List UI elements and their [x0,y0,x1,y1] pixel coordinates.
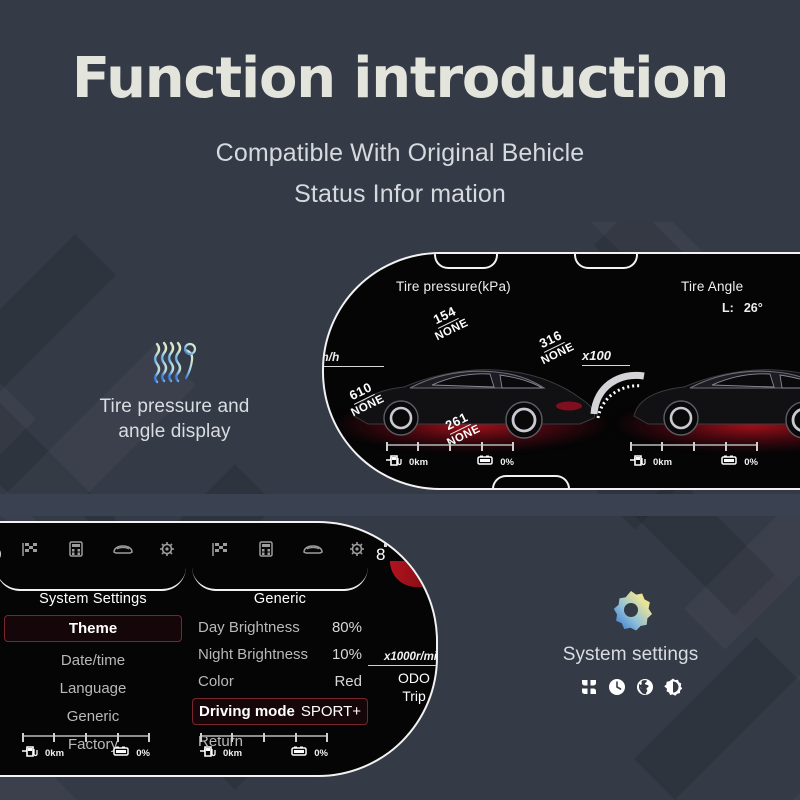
clock-icon [607,677,627,697]
menu-item-label: Language [60,676,127,701]
system-settings-cluster-panel: 0 8 [0,521,438,777]
range-value: 0km [409,457,428,468]
status-ticks [386,444,514,452]
status-bar-right: 0km 0% [200,735,328,760]
trip-label: Trip [368,688,438,704]
checkered-flag-icon[interactable] [20,541,40,557]
fuel-icon [630,455,648,469]
gear-icon[interactable] [158,541,178,557]
gear-icon [508,588,753,632]
battery-icon [477,455,495,469]
battery-value: 0% [314,748,328,759]
menu-item-datetime[interactable]: Date/time [4,648,182,673]
range-value: 0km [653,457,672,468]
battery-icon [113,746,131,760]
rpm-multiplier-label: x100 [582,348,630,366]
menu-item-label: Date/time [61,648,125,673]
menu-item-label: Driving mode [199,699,301,724]
menu-item-generic[interactable]: Generic [4,704,182,729]
range-value: 0km [45,748,64,759]
status-bar-left: 0km 0% [22,735,150,760]
redline-arc [390,561,438,587]
odo-label: ODO [368,670,438,686]
gauge-tick-right [384,537,387,547]
car-icon[interactable] [302,541,322,557]
fuel-icon [200,746,218,760]
car-silhouette-right [624,354,800,444]
battery-icon [721,455,739,469]
panel-notch-bottom [492,475,570,490]
rpm-unit-label: x1000r/min [368,651,438,666]
tab-icons-left[interactable] [20,541,178,557]
menu-item-label: Day Brightness [198,615,332,640]
header-section: Function introduction Compatible With Or… [0,0,800,222]
menu-arc-right [192,567,368,591]
menu-item-color[interactable]: Color Red [192,669,368,694]
feature-tire-pressure: Tire pressure and angle display [52,338,297,444]
battery-value: 0% [136,748,150,759]
menu-item-theme[interactable]: Theme [4,615,182,642]
brightness-icon [663,677,683,697]
status-ticks [200,735,328,743]
tire-value-front-left: 154 NONE [425,300,470,343]
menu-item-value: Red [334,669,362,694]
status-values: 0km 0% [200,746,328,760]
generic-settings-menu: Generic Day Brightness 80% Night Brightn… [192,591,368,754]
fuel-icon [386,455,404,469]
feature-caption-line-2: angle display [52,419,297,444]
status-values: 0km 0% [22,746,150,760]
grid-clover-icon [579,677,599,697]
feature-mini-icons [508,677,753,697]
status-ticks [630,444,758,452]
status-values: 0km 0% [386,455,514,469]
menu-item-value: 10% [332,642,362,667]
feature-system-settings: System settings [508,588,753,697]
menu-arc-left [0,567,186,591]
menu-item-driving-mode[interactable]: Driving mode SPORT+ [192,698,368,725]
gauge-value-left: 0 [0,545,1,565]
subtitle-line-1: Compatible With Original Behicle [0,139,800,168]
tire-pressure-cluster-panel: Tire pressure(kPa) m/h 154 NONE 316 NO [322,252,800,490]
panel-notch-right [574,252,638,269]
menu-item-language[interactable]: Language [4,676,182,701]
menu-title: System Settings [4,591,182,607]
menu-item-value: 80% [332,615,362,640]
trip-computer-icon[interactable] [256,541,276,557]
section-divider [0,494,800,516]
trip-computer-icon[interactable] [66,541,86,557]
menu-item-label: Color [198,669,334,694]
status-bar-right: 0km 0% [630,444,758,469]
menu-item-value: SPORT+ [301,699,361,724]
feature-caption-line-1: Tire pressure and [52,394,297,419]
feature-caption-line-1: System settings [508,642,753,667]
menu-item-label: Generic [67,704,120,729]
page-root: Function introduction Compatible With Or… [0,0,800,800]
menu-title: Generic [192,591,368,607]
page-title: Function introduction [0,46,800,111]
tab-icons-right[interactable] [210,541,368,557]
range-value: 0km [223,748,242,759]
car-icon[interactable] [112,541,132,557]
tire-pressure-title: Tire pressure(kPa) [396,279,511,294]
battery-value: 0% [500,457,514,468]
menu-item-label: Theme [69,616,117,641]
globe-icon [635,677,655,697]
battery-value: 0% [744,457,758,468]
menu-item-label: Night Brightness [198,642,332,667]
battery-icon [291,746,309,760]
gauge-value-right: 8 [376,545,385,565]
status-values: 0km 0% [630,455,758,469]
checkered-flag-icon[interactable] [210,541,230,557]
tire-angle-title: Tire Angle [681,279,743,294]
status-bar-left: 0km 0% [386,444,514,469]
menu-item-night-brightness[interactable]: Night Brightness 10% [192,642,368,667]
tire-angle-value: L:26° [722,301,763,315]
tire-tread-gauge-icon [52,338,297,384]
system-settings-menu: System Settings Theme Date/time Language… [4,591,182,757]
fuel-icon [22,746,40,760]
subtitle-line-2: Status Infor mation [0,180,800,209]
status-ticks [22,735,150,743]
panel-notch-left [434,252,498,269]
gear-icon[interactable] [348,541,368,557]
rpm-odo-block: x1000r/min ODO Trip [368,651,438,704]
menu-item-day-brightness[interactable]: Day Brightness 80% [192,615,368,640]
